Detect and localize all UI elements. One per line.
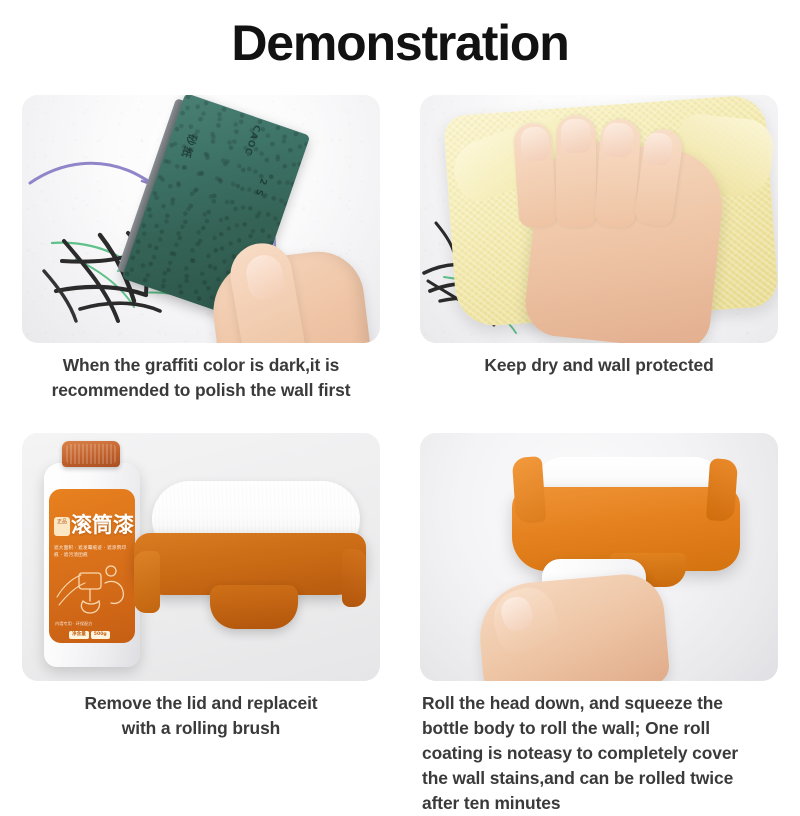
photo-polish-wall: 砂纸 CAOC 2 S bbox=[22, 95, 380, 343]
fingernail bbox=[520, 126, 550, 162]
label-illustration bbox=[53, 557, 131, 619]
photo-wipe-dry bbox=[420, 95, 778, 343]
sponge-print-code: CAOC bbox=[242, 123, 262, 156]
demo-row-1: 砂纸 CAOC 2 S When the graffiti color is d… bbox=[0, 95, 800, 403]
product-label: 正品 滚筒漆 遮大面积 · 遮发霉痕迹 · 遮涂鸦印痕 · 遮污渍团痕 bbox=[49, 489, 135, 643]
demo-grid: 砂纸 CAOC 2 S When the graffiti color is d… bbox=[0, 95, 800, 816]
roller-arm-right bbox=[342, 549, 366, 607]
fingernail bbox=[642, 131, 674, 167]
label-weight-value: 500g bbox=[91, 631, 110, 639]
caption-replace-lid: Remove the lid and replaceit with a roll… bbox=[22, 691, 380, 741]
sponge-print-mark: 砂纸 bbox=[177, 132, 201, 162]
paint-bottle: 正品 滚筒漆 遮大面积 · 遮发霉痕迹 · 遮涂鸦印痕 · 遮污渍团痕 bbox=[44, 441, 140, 667]
label-title: 滚筒漆 bbox=[71, 513, 134, 538]
demo-step-wipe-dry: Keep dry and wall protected bbox=[420, 95, 778, 403]
roller-brush bbox=[134, 481, 366, 647]
demo-step-roll-wall: Roll the head down, and squeeze the bott… bbox=[420, 433, 778, 816]
caption-roll-wall: Roll the head down, and squeeze the bott… bbox=[418, 691, 780, 816]
roller-arm-left bbox=[134, 551, 160, 613]
caption-wipe-dry: Keep dry and wall protected bbox=[420, 353, 778, 378]
roller-arm-right bbox=[706, 458, 738, 522]
label-weight-row: 净含量 500g bbox=[69, 631, 110, 639]
sponge-print-grit: 2 S bbox=[252, 177, 268, 198]
label-footer: 内墙专用 · 环保配方 bbox=[55, 621, 129, 627]
demo-step-polish-wall: 砂纸 CAOC 2 S When the graffiti color is d… bbox=[22, 95, 380, 403]
roller-arm-left bbox=[512, 456, 547, 524]
demo-step-replace-lid: 正品 滚筒漆 遮大面积 · 遮发霉痕迹 · 遮涂鸦印痕 · 遮污渍团痕 bbox=[22, 433, 380, 816]
page-title: Demonstration bbox=[0, 14, 800, 72]
demo-row-2: 正品 滚筒漆 遮大面积 · 遮发霉痕迹 · 遮涂鸦印痕 · 遮污渍团痕 bbox=[0, 433, 800, 816]
roller-neck-connector bbox=[210, 585, 298, 629]
bottle-cap bbox=[62, 441, 120, 467]
fingernail bbox=[602, 122, 634, 158]
label-badge-text: 正品 bbox=[54, 517, 70, 527]
photo-replace-lid: 正品 滚筒漆 遮大面积 · 遮发霉痕迹 · 遮涂鸦印痕 · 遮污渍团痕 bbox=[22, 433, 380, 681]
label-weight-tag: 净含量 bbox=[69, 631, 89, 639]
photo-roll-wall bbox=[420, 433, 778, 681]
fingernail bbox=[561, 119, 591, 153]
demonstration-page: Demonstration bbox=[0, 0, 800, 800]
caption-polish-wall: When the graffiti color is dark,it is re… bbox=[22, 353, 380, 403]
label-badge: 正品 bbox=[54, 517, 70, 536]
